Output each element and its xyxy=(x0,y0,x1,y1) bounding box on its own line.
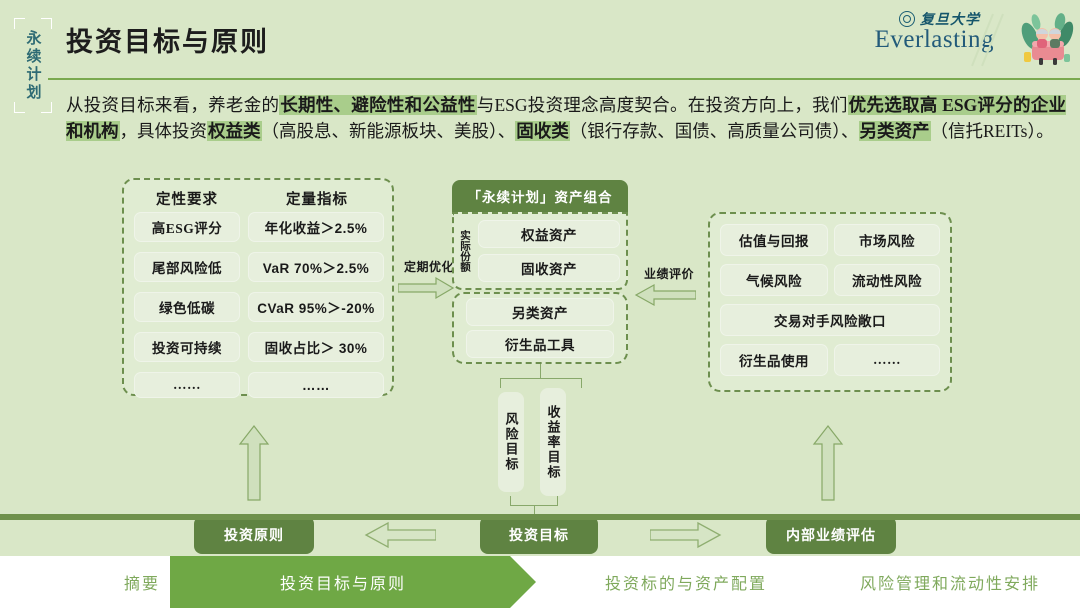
page-title: 投资目标与原则 xyxy=(66,20,269,59)
vertical-item-return-target[interactable]: 收益率目标 xyxy=(540,388,566,496)
sidebar-brand-block: 永续计划 xyxy=(10,18,54,113)
left-col2-item-4[interactable]: …… xyxy=(248,372,384,398)
bracket-stem-top xyxy=(540,364,541,378)
footer-item-investment-goals-principles[interactable]: 投资目标与原则 xyxy=(170,556,536,608)
title-divider xyxy=(48,78,1080,80)
left-col2-header: 定量指标 xyxy=(252,188,382,209)
bracket-corner-top-left-icon xyxy=(14,18,25,29)
arrow-label-periodic-optimization: 定期优化 xyxy=(404,258,454,275)
right-item-3[interactable]: 流动性风险 xyxy=(834,264,940,296)
diagonal-slashes-icon xyxy=(988,14,1018,69)
para-seg-4: （高股息、新能源板块、美股）、 xyxy=(262,121,516,141)
para-seg-2: 与ESG投资理念高度契合。在投资方向上，我们 xyxy=(477,95,848,115)
portfolio-header: 「永续计划」资产组合 xyxy=(452,180,628,212)
para-seg-1: 从投资目标来看，养老金的 xyxy=(66,95,279,115)
left-col2-item-3[interactable]: 固收占比＞ 30% xyxy=(248,332,384,362)
body-paragraph: 从投资目标来看，养老金的长期性、避险性和公益性与ESG投资理念高度契合。在投资方… xyxy=(66,92,1066,144)
slide-root: 永续计划 投资目标与原则 复旦大学 Everlasting xyxy=(0,0,1080,608)
left-col2-item-0[interactable]: 年化收益＞2.5% xyxy=(248,212,384,242)
bracket-connector-bottom xyxy=(510,496,558,506)
left-col1-item-0[interactable]: 高ESG评分 xyxy=(134,212,240,242)
bottom-node-internal-performance-review[interactable]: 内部业绩评估 xyxy=(766,516,896,554)
vertical-item-risk-target[interactable]: 风险目标 xyxy=(498,392,524,492)
para-seg-3: ，具体投资 xyxy=(120,121,208,141)
left-col1-item-1[interactable]: 尾部风险低 xyxy=(134,252,240,282)
bracket-corner-top-right-icon xyxy=(41,18,52,29)
university-seal-icon xyxy=(899,11,915,27)
footer-item-assets-allocation[interactable]: 投资标的与资产配置 xyxy=(556,556,816,608)
footer-accent-band xyxy=(0,514,1080,520)
footer-nav: 摘要 投资目标与原则 投资标的与资产配置 风险管理和流动性安排 xyxy=(0,556,1080,608)
elderly-couple-plants-illustration xyxy=(1016,8,1078,70)
left-col2-item-1[interactable]: VaR 70%＞2.5% xyxy=(248,252,384,282)
right-item-5[interactable]: 衍生品使用 xyxy=(720,344,828,376)
arrow-left-bottom-icon xyxy=(364,520,436,550)
left-criteria-panel xyxy=(122,178,394,396)
left-col1-item-3[interactable]: 投资可持续 xyxy=(134,332,240,362)
actual-share-label: 实际份额 xyxy=(458,222,470,280)
arrow-right-periodic-optimization-icon xyxy=(398,276,454,300)
brand-block: 复旦大学 Everlasting xyxy=(850,4,1080,74)
para-highlight-3: 权益类 xyxy=(207,121,262,141)
right-item-2[interactable]: 气候风险 xyxy=(720,264,828,296)
bracket-connector-top xyxy=(500,378,582,388)
bottom-node-investment-principles[interactable]: 投资原则 xyxy=(194,516,314,554)
left-col2-item-2[interactable]: CVaR 95%＞-20% xyxy=(248,292,384,322)
arrow-up-left-icon xyxy=(238,424,270,502)
para-seg-6: （信托REITs）。 xyxy=(931,121,1054,141)
portfolio-item-fixed-income[interactable]: 固收资产 xyxy=(478,254,620,282)
portfolio-item-equity[interactable]: 权益资产 xyxy=(478,220,620,248)
footer-item-risk-liquidity[interactable]: 风险管理和流动性安排 xyxy=(820,556,1080,608)
right-item-4[interactable]: 交易对手风险敞口 xyxy=(720,304,940,336)
para-highlight-1: 长期性、避险性和公益性 xyxy=(279,95,476,115)
para-highlight-4: 固收类 xyxy=(515,121,570,141)
right-item-6[interactable]: …… xyxy=(834,344,940,376)
para-highlight-5: 另类资产 xyxy=(859,121,931,141)
para-seg-5: （银行存款、国债、高质量公司债）、 xyxy=(570,121,859,141)
arrow-left-performance-evaluation-icon xyxy=(634,283,696,307)
left-col1-item-2[interactable]: 绿色低碳 xyxy=(134,292,240,322)
bracket-corner-bottom-left-icon xyxy=(14,102,25,113)
arrow-label-performance-evaluation: 业绩评价 xyxy=(644,265,694,282)
right-item-0[interactable]: 估值与回报 xyxy=(720,224,828,256)
portfolio-item-derivatives[interactable]: 衍生品工具 xyxy=(466,330,614,358)
arrow-right-bottom-icon xyxy=(650,520,722,550)
portfolio-item-alternative[interactable]: 另类资产 xyxy=(466,298,614,326)
bottom-node-investment-goals[interactable]: 投资目标 xyxy=(480,516,598,554)
sidebar-vertical-title: 永续计划 xyxy=(25,30,40,102)
left-col1-item-4[interactable]: …… xyxy=(134,372,240,398)
right-item-1[interactable]: 市场风险 xyxy=(834,224,940,256)
left-col1-header: 定性要求 xyxy=(134,188,240,209)
arrow-up-right-icon xyxy=(812,424,844,502)
bracket-corner-bottom-right-icon xyxy=(41,102,52,113)
